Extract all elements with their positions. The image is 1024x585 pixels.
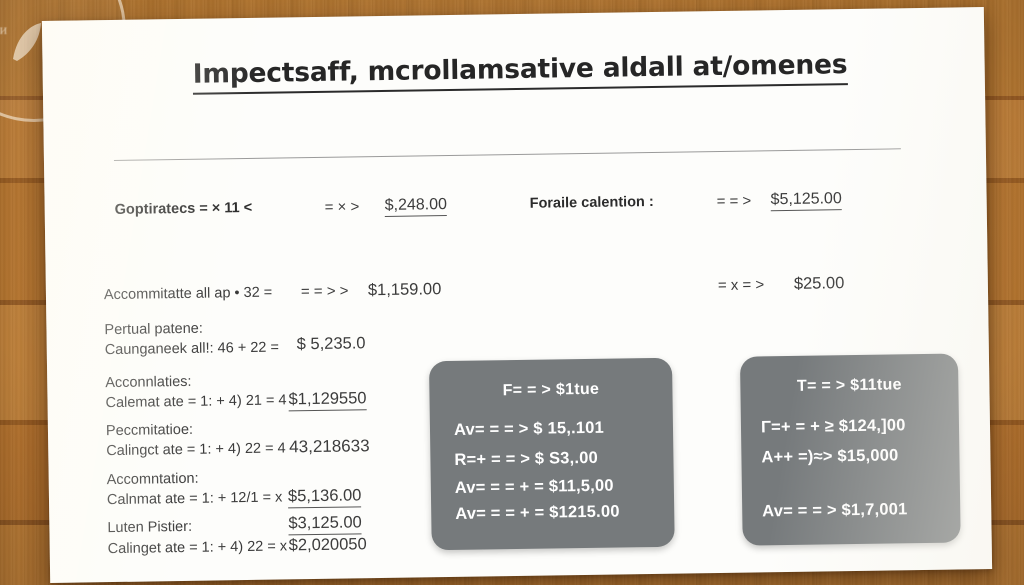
summary-card-right-row-1: A++ =)≈> $15,000 <box>761 446 898 467</box>
summary-card-right-header: T= = > $11tue <box>740 375 958 396</box>
entry-1-value: $ 5,235.0 <box>297 334 366 354</box>
summary-card-left-row-1: R=+ = = > $ S3,.00 <box>454 449 598 470</box>
entry-2-value: $1,129550 <box>288 389 366 411</box>
title-divider <box>114 148 901 161</box>
row1-left-value: $,248.00 <box>385 196 448 217</box>
entry-5-label: Calinget ate = 1: + 4) 22 = x <box>108 538 288 557</box>
summary-card-left-row-0: Av= = = > $ 15,.101 <box>454 419 604 440</box>
entry-1-title: Pertual patene: <box>104 321 203 338</box>
entry-1-label: Caunganeek all!: 46 + 22 = <box>105 340 279 359</box>
entry-5-title: Luten Pistier: <box>107 519 192 536</box>
entry-0-right-value: $25.00 <box>794 274 845 294</box>
summary-card-right-row-3: Av= = = > $1,7,001 <box>762 500 907 521</box>
entry-3-label: Calingct ate = 1: + 4) 22 = 4 <box>106 440 286 459</box>
entry-4-title: Accomntation: <box>107 471 199 488</box>
row1-right-value: $5,125.00 <box>770 190 841 211</box>
row1-left-label: Goptiratecs = × 11 < <box>115 200 253 218</box>
entry-0-right-operator: = x = > <box>718 276 765 294</box>
logo-text: & Спиzани <box>0 23 47 39</box>
entry-0-value: $1,159.00 <box>368 280 442 300</box>
paper-sheet: Impectsaff, mcrollamsative aldall at/ome… <box>42 7 992 583</box>
summary-card-right[interactable]: T= = > $11tue Γ=+ = + ≥ $124,]00 A++ =)≈… <box>740 353 961 545</box>
summary-card-right-row-0: Γ=+ = + ≥ $124,]00 <box>761 416 906 437</box>
summary-card-left-header: F= = > $1tue <box>429 380 672 402</box>
entry-0-label: Accommitatte all ap • 32 = <box>104 285 273 303</box>
entry-0-operator: = = > > <box>301 283 349 301</box>
row1-right-label: Foraile calention : <box>530 194 654 212</box>
row1-left-operator: = × > <box>325 198 360 216</box>
summary-card-left[interactable]: F= = > $1tue Av= = = > $ 15,.101 R=+ = =… <box>429 358 675 551</box>
entry-4-label: Calnmat ate = 1: + 12/1 = x <box>107 490 283 509</box>
entry-2-label: Calemat ate = 1: + 4) 21 = 4 <box>105 392 286 411</box>
entry-3-value: 43,218633 <box>289 436 370 457</box>
row1-right-operator: = = > <box>717 193 752 211</box>
entry-3-title: Peccmitatioe: <box>106 422 193 439</box>
entry-4-value: $5,136.00 <box>288 486 362 508</box>
entry-5-value: $2,020050 <box>289 535 367 555</box>
summary-card-left-row-3: Av= = = + = $1215.00 <box>455 503 620 524</box>
entry-2-title: Acconnlaties: <box>105 374 191 391</box>
page-title: Impectsaff, mcrollamsative aldall at/ome… <box>192 49 847 95</box>
summary-card-left-row-2: Av= = = + = $11,5,00 <box>455 477 614 498</box>
entry-5-extra-value: $3,125.00 <box>288 513 362 535</box>
